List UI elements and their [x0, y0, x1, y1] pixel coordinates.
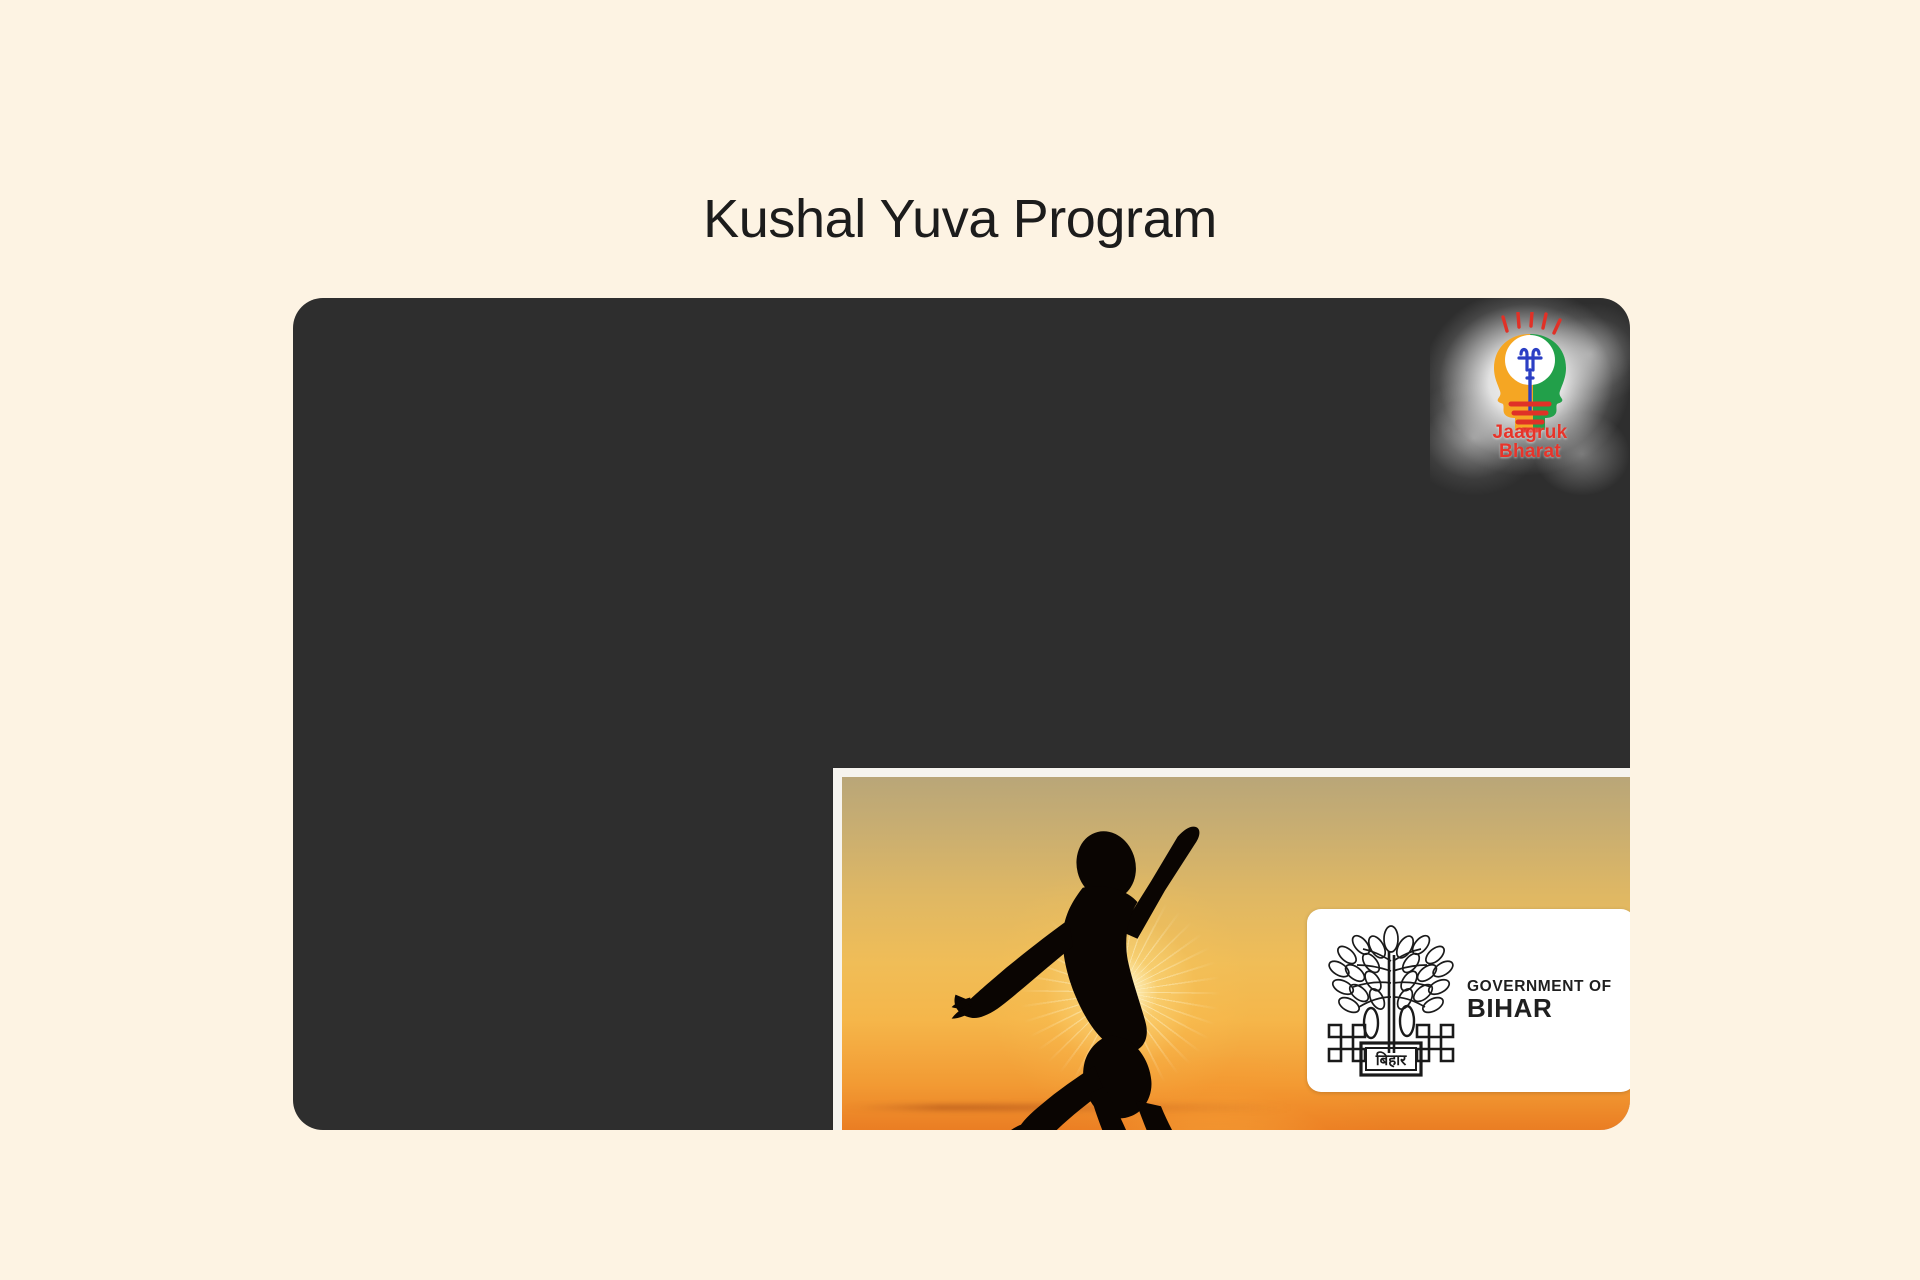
brand-logo-text: Jaagruk Bharat: [1430, 423, 1630, 462]
idea-rays-icon: [1503, 312, 1560, 333]
jaagruk-bharat-logo: Jaagruk Bharat: [1430, 298, 1630, 498]
media-panel: Jaagruk Bharat: [293, 298, 1630, 1130]
photo-frame: बिहार GOVERNMENT OF BIHAR: [833, 768, 1630, 1130]
jumping-person-silhouette: [952, 825, 1220, 1130]
page-title: Kushal Yuva Program: [0, 188, 1920, 250]
government-of-bihar-emblem: बिहार: [1325, 925, 1457, 1077]
sunset-jump-photo: बिहार GOVERNMENT OF BIHAR: [842, 777, 1630, 1130]
emblem-script-text: बिहार: [1375, 1051, 1407, 1069]
emblem-nameplate: बिहार: [1361, 1043, 1421, 1075]
gov-card-text: GOVERNMENT OF BIHAR: [1463, 978, 1621, 1022]
government-of-bihar-card: बिहार GOVERNMENT OF BIHAR: [1307, 909, 1630, 1092]
gov-card-line-2: BIHAR: [1467, 995, 1621, 1022]
brand-logo-line-2: Bharat: [1430, 442, 1630, 461]
brand-logo-line-1: Jaagruk: [1430, 423, 1630, 442]
